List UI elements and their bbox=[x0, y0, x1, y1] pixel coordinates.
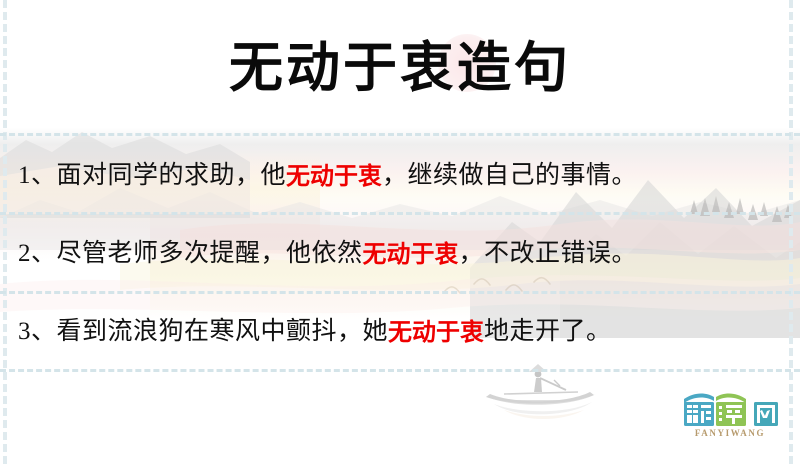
idiom-highlight-1: 无动于衷 bbox=[286, 159, 382, 193]
sentence-index-2: 2、 bbox=[18, 237, 57, 271]
sentence-after-3: 地走开了。 bbox=[484, 315, 612, 349]
fanyiwang-logo-icon bbox=[674, 388, 786, 430]
sentence-before-2: 尽管老师多次提醒，他依然 bbox=[57, 237, 363, 271]
sentence-before-3: 看到流浪狗在寒风中颤抖，她 bbox=[57, 315, 389, 349]
sentence-index-3: 3、 bbox=[18, 315, 57, 349]
idiom-highlight-3: 无动于衷 bbox=[388, 315, 484, 349]
sentence-after-1: ，继续做自己的事情。 bbox=[382, 159, 637, 193]
logo-subtitle: FANYIWANG bbox=[674, 428, 786, 438]
sentence-index-1: 1、 bbox=[18, 159, 57, 193]
sentence-list: 1、面对同学的求助，他无动于衷，继续做自己的事情。 2、尽管老师多次提醒，他依然… bbox=[0, 137, 800, 371]
sentence-after-2: ，不改正错误。 bbox=[459, 237, 638, 271]
page-title: 无动于衷造句 bbox=[0, 34, 800, 100]
site-logo[interactable]: FANYIWANG bbox=[674, 388, 786, 444]
slide-canvas: 无动于衷造句 1、面对同学的求助，他无动于衷，继续做自己的事情。 2、尽管老师多… bbox=[0, 0, 800, 464]
sentence-before-1: 面对同学的求助，他 bbox=[57, 159, 287, 193]
sentence-item-3: 3、看到流浪狗在寒风中颤抖，她无动于衷地走开了。 bbox=[0, 293, 800, 371]
sentence-item-2: 2、尽管老师多次提醒，他依然无动于衷，不改正错误。 bbox=[0, 215, 800, 293]
sentence-item-1: 1、面对同学的求助，他无动于衷，继续做自己的事情。 bbox=[0, 137, 800, 215]
divider-rule-1 bbox=[0, 133, 800, 136]
idiom-highlight-2: 无动于衷 bbox=[363, 237, 459, 271]
